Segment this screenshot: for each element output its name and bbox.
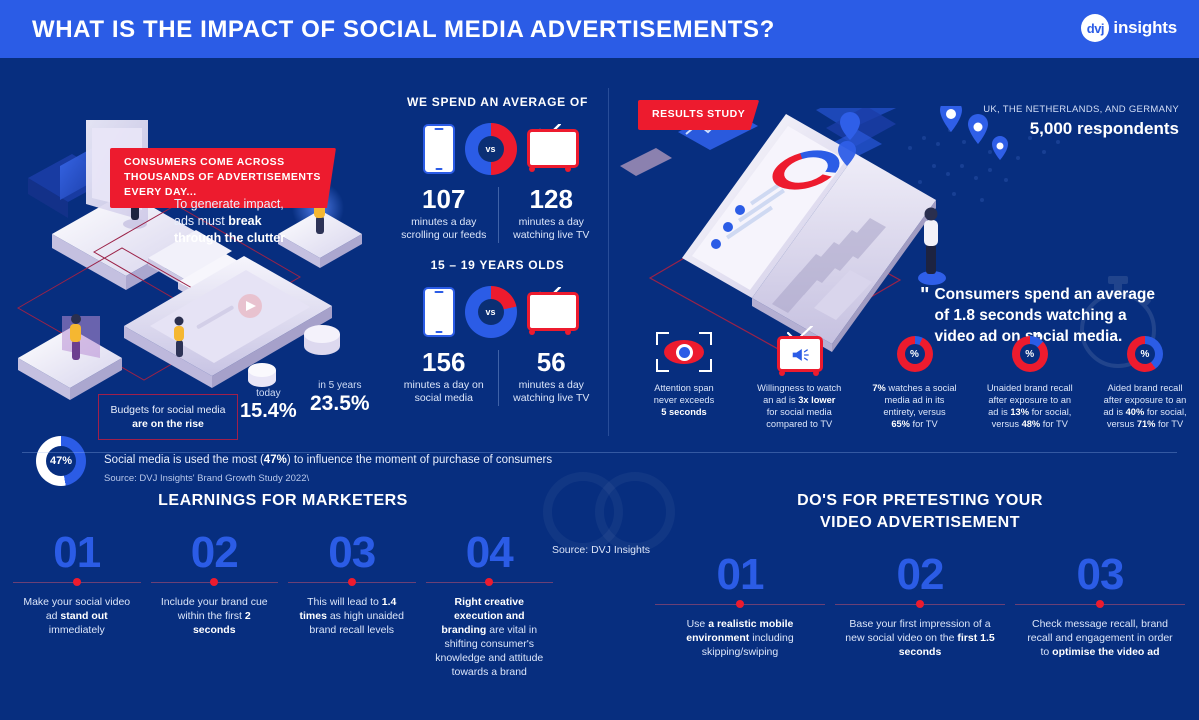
dos-text-3: Check message recall, brand recall and e…	[1015, 617, 1185, 659]
stat-text-4: Unaided brand recall after exposure to a…	[976, 382, 1084, 430]
social-minutes-2: 156	[394, 348, 494, 376]
vs-label-1: vs	[485, 144, 495, 154]
l1-bold: stand out	[60, 610, 107, 622]
purchase-donut-value: 47%	[50, 455, 72, 467]
rail-dot-2	[210, 578, 218, 586]
stat-icon-wrap-5: %	[1091, 328, 1199, 372]
vs-donut-2: vs	[465, 286, 517, 338]
dos-rail-2	[835, 604, 1005, 605]
phone-icon	[423, 124, 455, 174]
stat5-bold2: 71%	[1137, 419, 1156, 429]
stat3-line1post: watches a social	[886, 383, 957, 393]
stat2-bold: 3x lower	[798, 395, 835, 405]
tv-megaphone-icon	[777, 330, 821, 372]
stat5-line4post: for TV	[1155, 419, 1183, 429]
value-divider	[498, 187, 499, 243]
stat2-line1: Willingness to watch	[757, 383, 841, 393]
stat4-bold2: 48%	[1022, 419, 1041, 429]
stat3-line4post: for TV	[910, 419, 938, 429]
stat5-line1: Aided brand recall	[1108, 383, 1183, 393]
impact-blurb: To generate impact, ads must break throu…	[174, 196, 304, 247]
dos-text-2: Base your first impression of a new soci…	[835, 617, 1005, 659]
percent-glyph-1: %	[910, 349, 919, 360]
tv-foot-right-3	[813, 370, 819, 376]
teens-title: 15 – 19 YEARS OLDS	[390, 258, 605, 272]
tv-foot-right	[565, 166, 571, 172]
bracket-top-left	[656, 332, 669, 345]
stat4-line4post: for TV	[1040, 419, 1068, 429]
tv-icon-1	[527, 130, 573, 168]
dos-title-line1: DO'S FOR PRETESTING YOUR	[797, 492, 1043, 509]
dos-title: DO'S FOR PRETESTING YOUR VIDEO ADVERTISE…	[650, 460, 1190, 534]
dos-steps: 01 Use a realistic mobile environment in…	[650, 552, 1190, 659]
dos-num-3: 03	[1015, 552, 1185, 598]
stat-icon-wrap-2	[745, 328, 853, 372]
future-label: in 5 years	[310, 380, 370, 391]
average-icon-row: vs	[390, 123, 605, 175]
stat5-line4pre: versus	[1107, 419, 1137, 429]
stat1-line1: Attention span	[654, 383, 713, 393]
d3-bold: optimise the video ad	[1052, 646, 1159, 658]
stat4-line2: after exposure to an	[988, 395, 1071, 405]
page-header: WHAT IS THE IMPACT OF SOCIAL MEDIA ADVER…	[0, 0, 1199, 58]
geo-countries: UK, THE NETHERLANDS, AND GERMANY	[983, 104, 1179, 115]
stat3-bold2: 65%	[891, 419, 910, 429]
rail-4	[426, 582, 554, 583]
stat-willingness: Willingness to watch an ad is 3x lower f…	[745, 328, 853, 430]
learning-step-4: 04 Right creative execution and branding…	[421, 530, 559, 679]
tv-icon-2	[527, 293, 573, 331]
key-findings-row: Attention span never exceeds 5 seconds	[630, 328, 1199, 430]
bottom-sections: LEARNINGS FOR MARKETERS 01 Make your soc…	[0, 460, 1199, 720]
megaphone-icon	[790, 347, 810, 362]
stat4-line4pre: versus	[992, 419, 1022, 429]
stat2-line4: compared to TV	[766, 419, 832, 429]
stat1-bold: 5 seconds	[661, 407, 706, 417]
social-label-2: minutes a day on social media	[394, 379, 494, 405]
dos-step-3: 03 Check message recall, brand recall an…	[1010, 552, 1190, 659]
stat3-line2: media ad in its	[885, 395, 945, 405]
stat-icon-wrap-4: %	[976, 328, 1084, 372]
today-value: 15.4%	[240, 400, 297, 423]
social-label-1: minutes a day scrolling our feeds	[394, 216, 494, 242]
rail-2	[151, 582, 279, 583]
logo-badge: dvj	[1081, 14, 1109, 42]
tv-screen-3	[777, 336, 823, 372]
learnings-section: LEARNINGS FOR MARKETERS 01 Make your soc…	[8, 460, 558, 679]
stat3-bold1: 7%	[872, 383, 885, 393]
learnings-steps: 01 Make your social video ad stand out i…	[8, 530, 558, 679]
dos-title-line2: VIDEO ADVERTISEMENT	[820, 514, 1020, 531]
left-illustration-panel: CONSUMERS COME ACROSS THOUSANDS OF ADVER…	[0, 58, 400, 438]
tv-foot-left-3	[779, 370, 785, 376]
dos-rail-3	[1015, 604, 1185, 605]
respondent-count: 5,000 respondents	[983, 119, 1179, 139]
tv-minutes-2: 56	[502, 348, 602, 376]
learning-text-1: Make your social video ad stand out imme…	[13, 595, 141, 637]
future-stat: in 5 years 23.5%	[310, 380, 370, 416]
bracket-top-right	[699, 332, 712, 345]
dos-rail-dot-1	[736, 600, 744, 608]
stat1-line2: never exceeds	[654, 395, 714, 405]
social-value-col: 107 minutes a day scrolling our feeds	[390, 185, 498, 242]
teens-icon-row: vs	[390, 286, 605, 338]
tv-foot-left-2	[529, 329, 535, 335]
eye-shape	[664, 340, 704, 364]
stat5-line3pre: ad is	[1103, 407, 1125, 417]
learning-num-4: 04	[426, 530, 554, 576]
dos-step-1: 01 Use a realistic mobile environment in…	[650, 552, 830, 659]
dos-text-1: Use a realistic mobile environment inclu…	[655, 617, 825, 659]
stat2-line3: for social media	[767, 407, 832, 417]
rail-dot-3	[348, 578, 356, 586]
stat4-line3pre: ad is	[988, 407, 1010, 417]
l1-post: immediately	[49, 624, 105, 636]
learning-num-3: 03	[288, 530, 416, 576]
learning-text-3: This will lead to 1.4 times as high unai…	[288, 595, 416, 637]
tv-minutes-1: 128	[502, 185, 602, 213]
tv-value-col-2: 56 minutes a day watching live TV	[498, 348, 606, 405]
rail-3	[288, 582, 416, 583]
vs-donut-1: vs	[465, 123, 517, 175]
average-values: 107 minutes a day scrolling our feeds 12…	[390, 185, 605, 242]
dos-section: DO'S FOR PRETESTING YOUR VIDEO ADVERTISE…	[650, 460, 1190, 659]
eye-pupil	[679, 347, 690, 358]
rail-dot-4	[485, 578, 493, 586]
section-divider	[22, 452, 1177, 453]
stat-entirety: % 7% watches a social media ad in its en…	[861, 328, 969, 430]
brand-logo: dvj insights	[1081, 14, 1177, 42]
today-label: today	[240, 388, 297, 399]
time-spent-column: WE SPEND AN AVERAGE OF vs 10	[390, 95, 605, 405]
eye-iris	[676, 344, 693, 361]
results-study-panel: RESULTS STUDY UK, THE NETHERLANDS, AND G…	[620, 88, 1199, 443]
infographic-page: WHAT IS THE IMPACT OF SOCIAL MEDIA ADVER…	[0, 0, 1199, 720]
budget-prefix: Budgets for social media	[111, 404, 226, 416]
learning-step-3: 03 This will lead to 1.4 times as high u…	[283, 530, 421, 679]
tv-screen	[527, 129, 579, 168]
percent-glyph-2: %	[1025, 349, 1034, 360]
learning-text-4: Right creative execution and branding ar…	[426, 595, 554, 679]
stat3-line3: entirety, versus	[883, 407, 945, 417]
percent-donut-icon-3: %	[1127, 336, 1163, 372]
average-title: WE SPEND AN AVERAGE OF	[390, 95, 605, 109]
tv-foot-left	[529, 166, 535, 172]
tv-screen-2	[527, 292, 579, 331]
teens-block: 15 – 19 YEARS OLDS vs 156	[390, 258, 605, 405]
rail-dot-1	[73, 578, 81, 586]
value-divider-2	[498, 350, 499, 406]
stat2-line2pre: an ad is	[763, 395, 798, 405]
dos-num-1: 01	[655, 552, 825, 598]
stat-unaided-recall: % Unaided brand recall after exposure to…	[976, 328, 1084, 430]
phone-icon-2	[423, 287, 455, 337]
stat-text-2: Willingness to watch an ad is 3x lower f…	[745, 382, 853, 430]
social-value-col-2: 156 minutes a day on social media	[390, 348, 498, 405]
tv-foot-right-2	[565, 329, 571, 335]
dos-rail-dot-2	[916, 600, 924, 608]
stat-text-5: Aided brand recall after exposure to an …	[1091, 382, 1199, 430]
dos-step-2: 02 Base your first impression of a new s…	[830, 552, 1010, 659]
stat4-line1: Unaided brand recall	[987, 383, 1073, 393]
bracket-bottom-right	[699, 359, 712, 372]
dos-num-2: 02	[835, 552, 1005, 598]
bracket-bottom-left	[656, 359, 669, 372]
learnings-title: LEARNINGS FOR MARKETERS	[8, 460, 558, 512]
l2-pre: Include your brand cue within the first	[161, 596, 268, 622]
tv-value-col: 128 minutes a day watching live TV	[498, 185, 606, 242]
learning-num-2: 02	[151, 530, 279, 576]
stat5-bold1: 40%	[1126, 407, 1145, 417]
stat5-line3post: for social,	[1144, 407, 1186, 417]
stat-attention-span: Attention span never exceeds 5 seconds	[630, 328, 738, 430]
tv-label-2: minutes a day watching live TV	[502, 379, 602, 405]
percent-glyph-3: %	[1141, 349, 1150, 360]
page-title: WHAT IS THE IMPACT OF SOCIAL MEDIA ADVER…	[32, 16, 775, 44]
stat5-line2: after exposure to an	[1104, 395, 1187, 405]
logo-wordmark: insights	[1113, 18, 1177, 38]
future-value: 23.5%	[310, 392, 370, 416]
percent-donut-icon-1: %	[897, 336, 933, 372]
vs-label-2: vs	[485, 307, 495, 317]
budget-box: Budgets for social media are on the rise	[98, 394, 238, 440]
dos-rail-1	[655, 604, 825, 605]
tv-label-1: minutes a day watching live TV	[502, 216, 602, 242]
rail-1	[13, 582, 141, 583]
today-stat: today 15.4%	[240, 388, 297, 423]
stat-aided-recall: % Aided brand recall after exposure to a…	[1091, 328, 1199, 430]
average-block: WE SPEND AN AVERAGE OF vs 10	[390, 95, 605, 242]
learning-step-1: 01 Make your social video ad stand out i…	[8, 530, 146, 679]
dos-rail-dot-3	[1096, 600, 1104, 608]
d1-pre: Use	[687, 618, 709, 630]
stat-icon-wrap-3: %	[861, 328, 969, 372]
learning-step-2: 02 Include your brand cue within the fir…	[146, 530, 284, 679]
results-study-tag: RESULTS STUDY	[638, 100, 759, 130]
learning-num-1: 01	[13, 530, 141, 576]
column-divider	[608, 88, 609, 436]
social-minutes-1: 107	[394, 185, 494, 213]
eye-scan-icon	[656, 332, 712, 372]
learning-text-2: Include your brand cue within the first …	[151, 595, 279, 637]
stat4-bold1: 13%	[1010, 407, 1029, 417]
stat-text-1: Attention span never exceeds 5 seconds	[630, 382, 738, 418]
l3-pre: This will lead to	[307, 596, 382, 608]
stat4-line3post: for social,	[1029, 407, 1071, 417]
stat-text-3: 7% watches a social media ad in its enti…	[861, 382, 969, 430]
geography-block: UK, THE NETHERLANDS, AND GERMANY 5,000 r…	[983, 104, 1179, 139]
teens-values: 156 minutes a day on social media 56 min…	[390, 348, 605, 405]
stat-icon-wrap-1	[630, 328, 738, 372]
percent-donut-icon-2: %	[1012, 336, 1048, 372]
budget-bold: are on the rise	[132, 418, 204, 430]
